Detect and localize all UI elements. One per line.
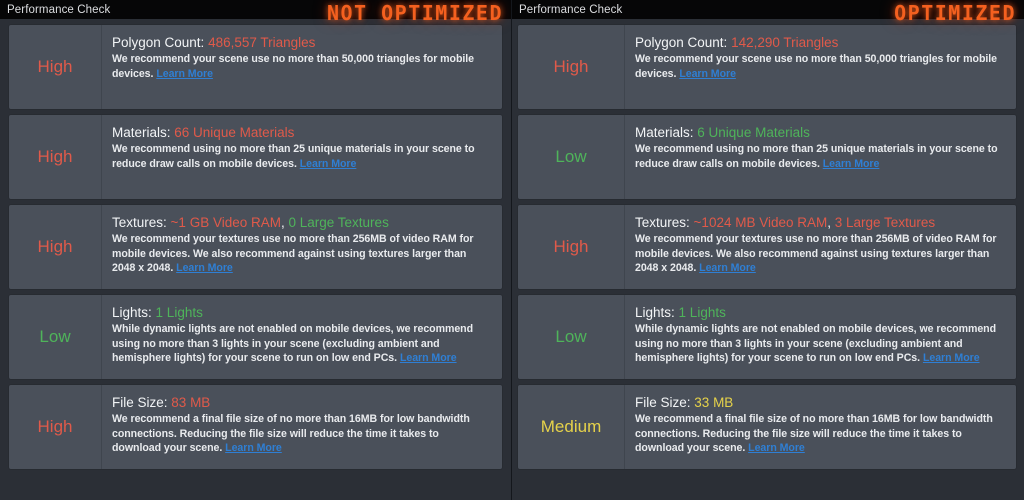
check-card: HighMaterials: 66 Unique MaterialsWe rec… [9,115,502,199]
check-value-secondary: 0 Large Textures [289,215,389,230]
check-value: 6 Unique Materials [697,125,810,140]
check-card: HighPolygon Count: 486,557 TrianglesWe r… [9,25,502,109]
check-description-text: We recommend a final file size of no mor… [112,413,470,454]
check-label: Polygon Count: [112,35,204,50]
severity-badge: High [9,205,102,289]
check-value: ~1024 MB Video RAM [694,215,828,230]
check-headline: Lights: 1 Lights [635,304,1004,321]
check-description: We recommend using no more than 25 uniqu… [635,142,1004,171]
severity-badge: High [518,25,625,109]
check-value: 142,290 Triangles [731,35,838,50]
check-headline: Textures: ~1 GB Video RAM, 0 Large Textu… [112,214,490,231]
performance-check-comparison: Performance CheckNOT OPTIMIZEDHighPolygo… [0,0,1024,500]
severity-badge: High [9,115,102,199]
check-description: We recommend using no more than 25 uniqu… [112,142,490,171]
check-headline: Materials: 6 Unique Materials [635,124,1004,141]
check-body: Polygon Count: 486,557 TrianglesWe recom… [102,25,502,109]
check-label: Textures: [112,215,167,230]
value-separator: , [827,215,835,230]
learn-more-link[interactable]: Learn More [176,262,233,274]
check-card: LowLights: 1 LightsWhile dynamic lights … [9,295,502,379]
check-card: LowLights: 1 LightsWhile dynamic lights … [518,295,1016,379]
severity-badge: Low [9,295,102,379]
learn-more-link[interactable]: Learn More [748,442,805,454]
window-title: Performance Check [7,4,110,16]
check-body: Materials: 66 Unique MaterialsWe recomme… [102,115,502,199]
check-list: HighPolygon Count: 486,557 TrianglesWe r… [0,19,511,475]
check-description: While dynamic lights are not enabled on … [635,322,1004,366]
check-description: We recommend your scene use no more than… [635,52,1004,81]
severity-badge: High [9,25,102,109]
check-card: HighPolygon Count: 142,290 TrianglesWe r… [518,25,1016,109]
check-label: Lights: [112,305,152,320]
check-value: 1 Lights [156,305,203,320]
check-value: 66 Unique Materials [174,125,294,140]
check-value: 1 Lights [679,305,726,320]
check-description: We recommend your textures use no more t… [112,232,490,276]
check-card: HighFile Size: 83 MBWe recommend a final… [9,385,502,469]
learn-more-link[interactable]: Learn More [225,442,282,454]
check-description-text: We recommend a final file size of no mor… [635,413,993,454]
severity-badge: Medium [518,385,625,469]
check-headline: Lights: 1 Lights [112,304,490,321]
learn-more-link[interactable]: Learn More [699,262,756,274]
learn-more-link[interactable]: Learn More [923,352,980,364]
check-label: Materials: [112,125,171,140]
check-card: HighTextures: ~1024 MB Video RAM, 3 Larg… [518,205,1016,289]
check-description-text: We recommend your textures use no more t… [635,233,996,274]
window-title: Performance Check [519,4,622,16]
check-value: 83 MB [171,395,210,410]
check-value-secondary: 3 Large Textures [835,215,935,230]
learn-more-link[interactable]: Learn More [823,158,880,170]
check-headline: Polygon Count: 142,290 Triangles [635,34,1004,51]
check-label: Materials: [635,125,694,140]
severity-badge: Low [518,115,625,199]
check-description-text: We recommend your textures use no more t… [112,233,473,274]
check-body: Lights: 1 LightsWhile dynamic lights are… [625,295,1016,379]
check-headline: File Size: 83 MB [112,394,490,411]
check-list: HighPolygon Count: 142,290 TrianglesWe r… [512,19,1024,475]
learn-more-link[interactable]: Learn More [400,352,457,364]
check-body: File Size: 83 MBWe recommend a final fil… [102,385,502,469]
learn-more-link[interactable]: Learn More [300,158,357,170]
check-label: Lights: [635,305,675,320]
check-description: While dynamic lights are not enabled on … [112,322,490,366]
check-headline: Textures: ~1024 MB Video RAM, 3 Large Te… [635,214,1004,231]
learn-more-link[interactable]: Learn More [679,68,736,80]
check-value: ~1 GB Video RAM [171,215,281,230]
check-body: Materials: 6 Unique MaterialsWe recommen… [625,115,1016,199]
severity-badge: High [518,205,625,289]
check-body: Textures: ~1024 MB Video RAM, 3 Large Te… [625,205,1016,289]
check-description: We recommend a final file size of no mor… [635,412,1004,456]
panel-not-optimized: Performance CheckNOT OPTIMIZEDHighPolygo… [0,0,512,500]
check-headline: File Size: 33 MB [635,394,1004,411]
check-label: File Size: [112,395,168,410]
check-label: Textures: [635,215,690,230]
optimization-stamp: NOT OPTIMIZED [327,1,503,25]
check-value: 486,557 Triangles [208,35,315,50]
optimization-stamp: OPTIMIZED [894,1,1016,25]
severity-badge: Low [518,295,625,379]
check-headline: Materials: 66 Unique Materials [112,124,490,141]
value-separator: , [281,215,289,230]
severity-badge: High [9,385,102,469]
check-body: Polygon Count: 142,290 TrianglesWe recom… [625,25,1016,109]
panel-optimized: Performance CheckOPTIMIZEDHighPolygon Co… [512,0,1024,500]
check-description: We recommend a final file size of no mor… [112,412,490,456]
check-description-text: We recommend using no more than 25 uniqu… [112,143,475,170]
check-headline: Polygon Count: 486,557 Triangles [112,34,490,51]
check-description: We recommend your textures use no more t… [635,232,1004,276]
check-body: Textures: ~1 GB Video RAM, 0 Large Textu… [102,205,502,289]
check-label: Polygon Count: [635,35,727,50]
check-body: File Size: 33 MBWe recommend a final fil… [625,385,1016,469]
check-body: Lights: 1 LightsWhile dynamic lights are… [102,295,502,379]
check-label: File Size: [635,395,691,410]
check-card: MediumFile Size: 33 MBWe recommend a fin… [518,385,1016,469]
check-card: HighTextures: ~1 GB Video RAM, 0 Large T… [9,205,502,289]
check-description: We recommend your scene use no more than… [112,52,490,81]
check-value: 33 MB [694,395,733,410]
check-card: LowMaterials: 6 Unique MaterialsWe recom… [518,115,1016,199]
learn-more-link[interactable]: Learn More [156,68,213,80]
check-description-text: We recommend using no more than 25 uniqu… [635,143,998,170]
